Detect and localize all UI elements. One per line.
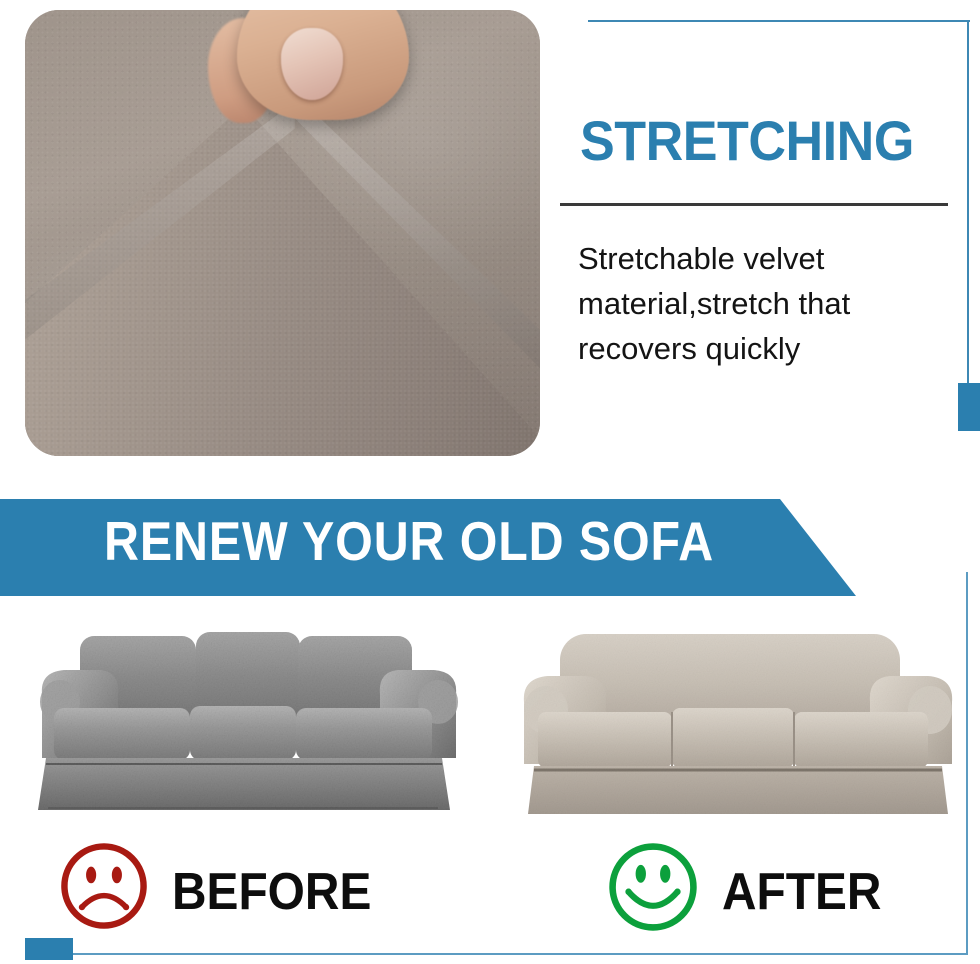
before-label: BEFORE: [172, 866, 371, 918]
section-headline: STRETCHING: [580, 113, 933, 169]
right-accent-line: [966, 572, 968, 955]
body-line-1: Stretchable velvet: [578, 237, 948, 282]
sad-face-icon: [58, 840, 150, 932]
old-gray-sofa: [18, 618, 480, 823]
after-label: AFTER: [722, 866, 881, 918]
corner-frame-horizontal-line: [588, 20, 970, 22]
renew-banner-title: RENEW YOUR OLD SOFA: [104, 514, 714, 569]
fabric-pinch-photo: [25, 10, 540, 456]
body-line-2: material,stretch that: [578, 282, 948, 327]
blue-accent-block-top-right: [958, 383, 980, 431]
bottom-accent-line: [73, 953, 968, 955]
headline-divider: [560, 203, 948, 206]
happy-face-icon: [606, 840, 700, 934]
body-line-3: recovers quickly: [578, 327, 948, 372]
section-body-text: Stretchable velvet material,stretch that…: [578, 237, 948, 372]
infographic-page: STRETCHING Stretchable velvet material,s…: [0, 0, 980, 964]
new-velvet-sofa: [512, 618, 964, 823]
blue-accent-block-bottom-left: [25, 938, 73, 960]
corner-frame-vertical-line: [967, 20, 969, 384]
